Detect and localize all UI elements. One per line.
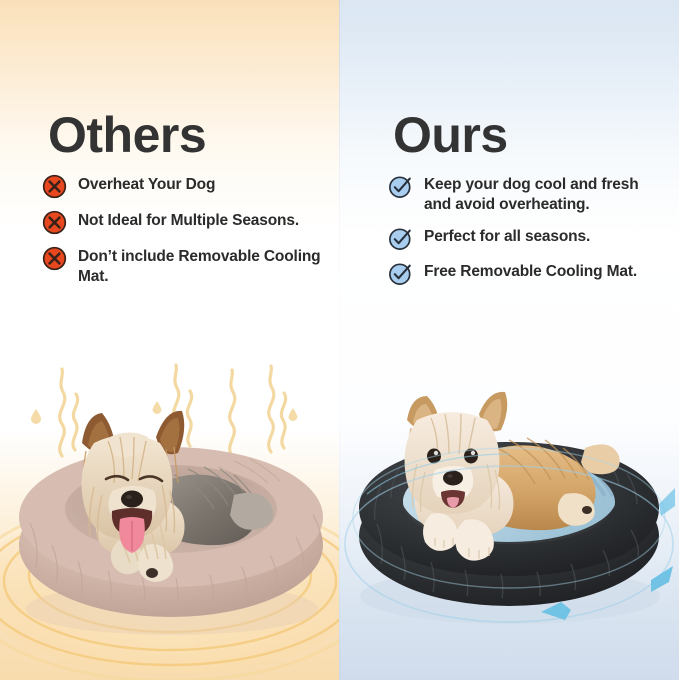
cross-circle-icon [42, 174, 67, 199]
list-item-label: Don’t include Removable Cooling Mat. [78, 246, 332, 288]
cross-circle-icon [42, 210, 67, 235]
cross-circle-icon [42, 246, 67, 271]
check-circle-icon [388, 226, 413, 251]
list-item-label: Overheat Your Dog [78, 174, 215, 195]
list-item: Perfect for all seasons. [388, 226, 666, 251]
ours-product-image [347, 390, 673, 640]
list-item-label: Not Ideal for Multiple Seasons. [78, 210, 299, 231]
others-panel: Others Overheat Your Dog [0, 0, 339, 680]
comparison-infographic: Others Overheat Your Dog [0, 0, 679, 680]
list-item-label: Free Removable Cooling Mat. [424, 261, 637, 282]
ours-heading: Ours [393, 110, 508, 160]
list-item-label: Keep your dog cool and fresh and avoid o… [424, 174, 666, 216]
heat-wave-icon [0, 352, 339, 462]
others-heading: Others [48, 110, 206, 160]
ours-bullet-list: Keep your dog cool and fresh and avoid o… [388, 174, 666, 296]
list-item: Free Removable Cooling Mat. [388, 261, 666, 286]
others-bullet-list: Overheat Your Dog Not Ideal for Multiple… [42, 174, 332, 299]
list-item: Not Ideal for Multiple Seasons. [42, 210, 332, 235]
airflow-arrows-icon [339, 440, 679, 655]
panel-divider [339, 0, 340, 680]
others-product-image [8, 395, 332, 645]
list-item: Keep your dog cool and fresh and avoid o… [388, 174, 666, 216]
list-item-label: Perfect for all seasons. [424, 226, 590, 247]
check-circle-icon [388, 261, 413, 286]
check-circle-icon [388, 174, 413, 199]
ours-panel: Ours Keep your dog cool and fresh and av… [339, 0, 679, 680]
warm-glow-rings [0, 455, 339, 680]
list-item: Don’t include Removable Cooling Mat. [42, 246, 332, 288]
list-item: Overheat Your Dog [42, 174, 332, 199]
